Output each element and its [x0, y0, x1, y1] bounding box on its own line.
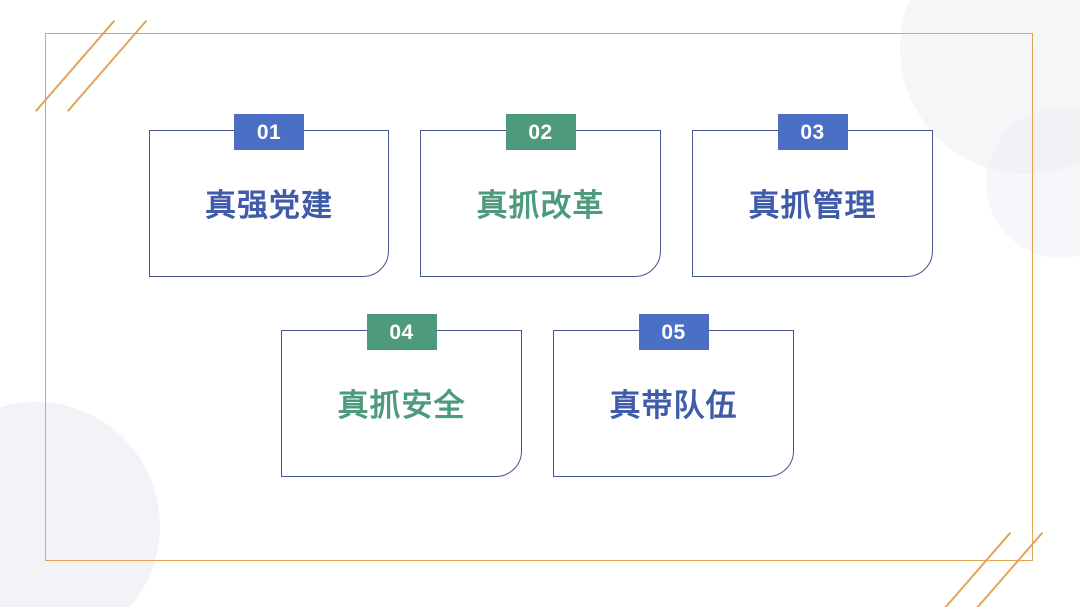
card-number-badge: 03: [778, 114, 848, 150]
slash-line: [963, 532, 1043, 607]
slash-line: [35, 20, 115, 112]
card-title: 真抓安全: [282, 387, 521, 424]
card-title: 真抓管理: [693, 187, 932, 224]
slash-line: [931, 532, 1011, 607]
slide-frame: [45, 33, 1033, 561]
card-number-badge: 05: [639, 314, 709, 350]
content-card-04[interactable]: 04 真抓安全: [281, 330, 522, 477]
card-number-badge: 02: [506, 114, 576, 150]
card-number-badge: 01: [234, 114, 304, 150]
content-card-03[interactable]: 03 真抓管理: [692, 130, 933, 277]
content-card-05[interactable]: 05 真带队伍: [553, 330, 794, 477]
content-card-02[interactable]: 02 真抓改革: [420, 130, 661, 277]
card-title: 真抓改革: [421, 187, 660, 224]
card-title: 真强党建: [150, 187, 388, 224]
background-circle-top-right-secondary: [986, 108, 1080, 258]
content-card-01[interactable]: 01 真强党建: [149, 130, 389, 277]
card-title: 真带队伍: [554, 387, 793, 424]
background-circle-bottom-left: [0, 402, 160, 607]
card-number-badge: 04: [367, 314, 437, 350]
slash-line: [67, 20, 147, 112]
slide-canvas: 01 真强党建 02 真抓改革 03 真抓管理 04 真抓安全 05 真带队伍: [0, 0, 1080, 607]
